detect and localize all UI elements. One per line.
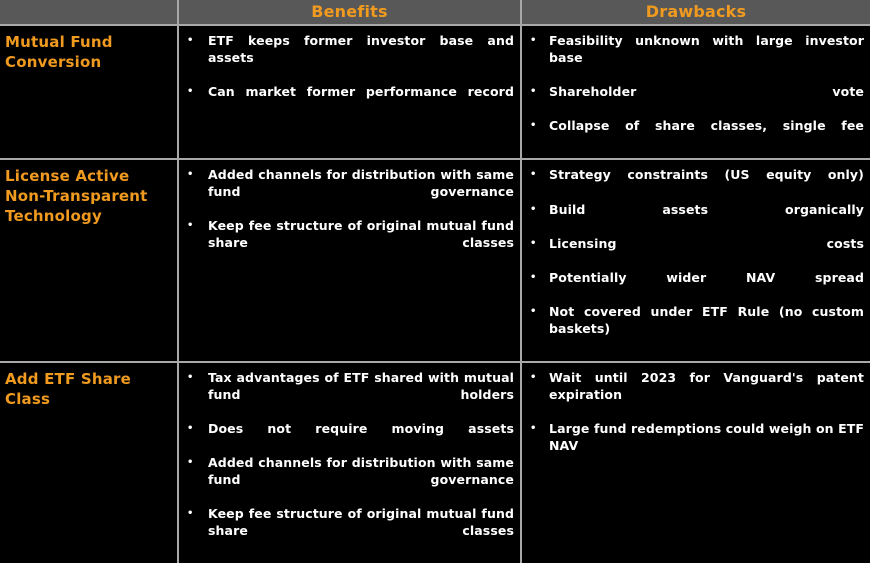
drawbacks-list: Wait until 2023 for Vanguard's patent ex… xyxy=(522,370,864,471)
drawbacks-list: Feasibility unknown with large investor … xyxy=(522,33,864,151)
list-item: Shareholder vote xyxy=(522,84,864,117)
list-item: Keep fee structure of original mutual fu… xyxy=(179,506,514,556)
list-item: Not covered under ETF Rule (no custom ba… xyxy=(522,304,864,354)
benefits-list: ETF keeps former investor base and asset… xyxy=(179,33,514,117)
drawbacks-list: Strategy constraints (US equity only)Bui… xyxy=(522,167,864,354)
benefits-list: Tax advantages of ETF shared with mutual… xyxy=(179,370,514,556)
list-item: Strategy constraints (US equity only) xyxy=(522,167,864,200)
list-item-text: Not covered under ETF Rule (no custom ba… xyxy=(549,304,864,354)
table-row: License Active Non-Transparent Technolog… xyxy=(0,159,870,362)
list-item: Can market former performance record xyxy=(179,84,514,117)
header-label-drawbacks: Drawbacks xyxy=(522,4,870,20)
benefits-list: Added channels for distribution with sam… xyxy=(179,167,514,268)
comparison-table-container: Benefits Drawbacks Mutual Fund Conversio… xyxy=(0,0,870,458)
list-item-text: Collapse of share classes, single fee xyxy=(549,118,864,151)
list-item: Added channels for distribution with sam… xyxy=(179,455,514,505)
cell-drawbacks-list: Strategy constraints (US equity only)Bui… xyxy=(521,159,870,362)
option-title-text: Add ETF Share Class xyxy=(5,370,173,410)
list-item-text: Added channels for distribution with sam… xyxy=(208,455,514,505)
header-cell-benefits: Benefits xyxy=(178,0,521,25)
cell-benefits-list: Added channels for distribution with sam… xyxy=(178,159,521,362)
list-item: Feasibility unknown with large investor … xyxy=(522,33,864,83)
list-item-text: Licensing costs xyxy=(549,236,864,269)
cell-option-title: License Active Non-Transparent Technolog… xyxy=(0,159,178,362)
table-row: Mutual Fund ConversionETF keeps former i… xyxy=(0,25,870,159)
list-item-text: Build assets organically xyxy=(549,202,864,235)
cell-option-title: Add ETF Share Class xyxy=(0,362,178,563)
list-item: Large fund redemptions could weigh on ET… xyxy=(522,421,864,471)
header-label-benefits: Benefits xyxy=(179,4,520,20)
option-title-text: License Active Non-Transparent Technolog… xyxy=(5,167,173,226)
list-item-text: Tax advantages of ETF shared with mutual… xyxy=(208,370,514,420)
list-item: Keep fee structure of original mutual fu… xyxy=(179,218,514,268)
list-item-text: Feasibility unknown with large investor … xyxy=(549,33,864,83)
option-title-text: Mutual Fund Conversion xyxy=(5,33,173,73)
benefits-drawbacks-table: Benefits Drawbacks Mutual Fund Conversio… xyxy=(0,0,870,563)
list-item-text: Potentially wider NAV spread xyxy=(549,270,864,303)
cell-benefits-list: ETF keeps former investor base and asset… xyxy=(178,25,521,159)
list-item-text: Strategy constraints (US equity only) xyxy=(549,167,864,200)
list-item: Potentially wider NAV spread xyxy=(522,270,864,303)
table-header: Benefits Drawbacks xyxy=(0,0,870,25)
list-item-text: Can market former performance record xyxy=(208,84,514,117)
list-item: Build assets organically xyxy=(522,202,864,235)
table-body: Mutual Fund ConversionETF keeps former i… xyxy=(0,25,870,563)
cell-benefits-list: Tax advantages of ETF shared with mutual… xyxy=(178,362,521,563)
list-item-text: Keep fee structure of original mutual fu… xyxy=(208,506,514,556)
cell-option-title: Mutual Fund Conversion xyxy=(0,25,178,159)
list-item-text: ETF keeps former investor base and asset… xyxy=(208,33,514,83)
list-item: Tax advantages of ETF shared with mutual… xyxy=(179,370,514,420)
list-item-text: Large fund redemptions could weigh on ET… xyxy=(549,421,864,471)
list-item-text: Wait until 2023 for Vanguard's patent ex… xyxy=(549,370,864,420)
list-item-text: Keep fee structure of original mutual fu… xyxy=(208,218,514,268)
list-item: Collapse of share classes, single fee xyxy=(522,118,864,151)
header-cell-option xyxy=(0,0,178,25)
header-cell-drawbacks: Drawbacks xyxy=(521,0,870,25)
cell-drawbacks-list: Feasibility unknown with large investor … xyxy=(521,25,870,159)
list-item: ETF keeps former investor base and asset… xyxy=(179,33,514,83)
cell-drawbacks-list: Wait until 2023 for Vanguard's patent ex… xyxy=(521,362,870,563)
list-item: Wait until 2023 for Vanguard's patent ex… xyxy=(522,370,864,420)
list-item-text: Added channels for distribution with sam… xyxy=(208,167,514,217)
list-item-text: Shareholder vote xyxy=(549,84,864,117)
header-row: Benefits Drawbacks xyxy=(0,0,870,25)
table-row: Add ETF Share ClassTax advantages of ETF… xyxy=(0,362,870,563)
list-item-text: Does not require moving assets xyxy=(208,421,514,454)
list-item: Added channels for distribution with sam… xyxy=(179,167,514,217)
list-item: Licensing costs xyxy=(522,236,864,269)
list-item: Does not require moving assets xyxy=(179,421,514,454)
